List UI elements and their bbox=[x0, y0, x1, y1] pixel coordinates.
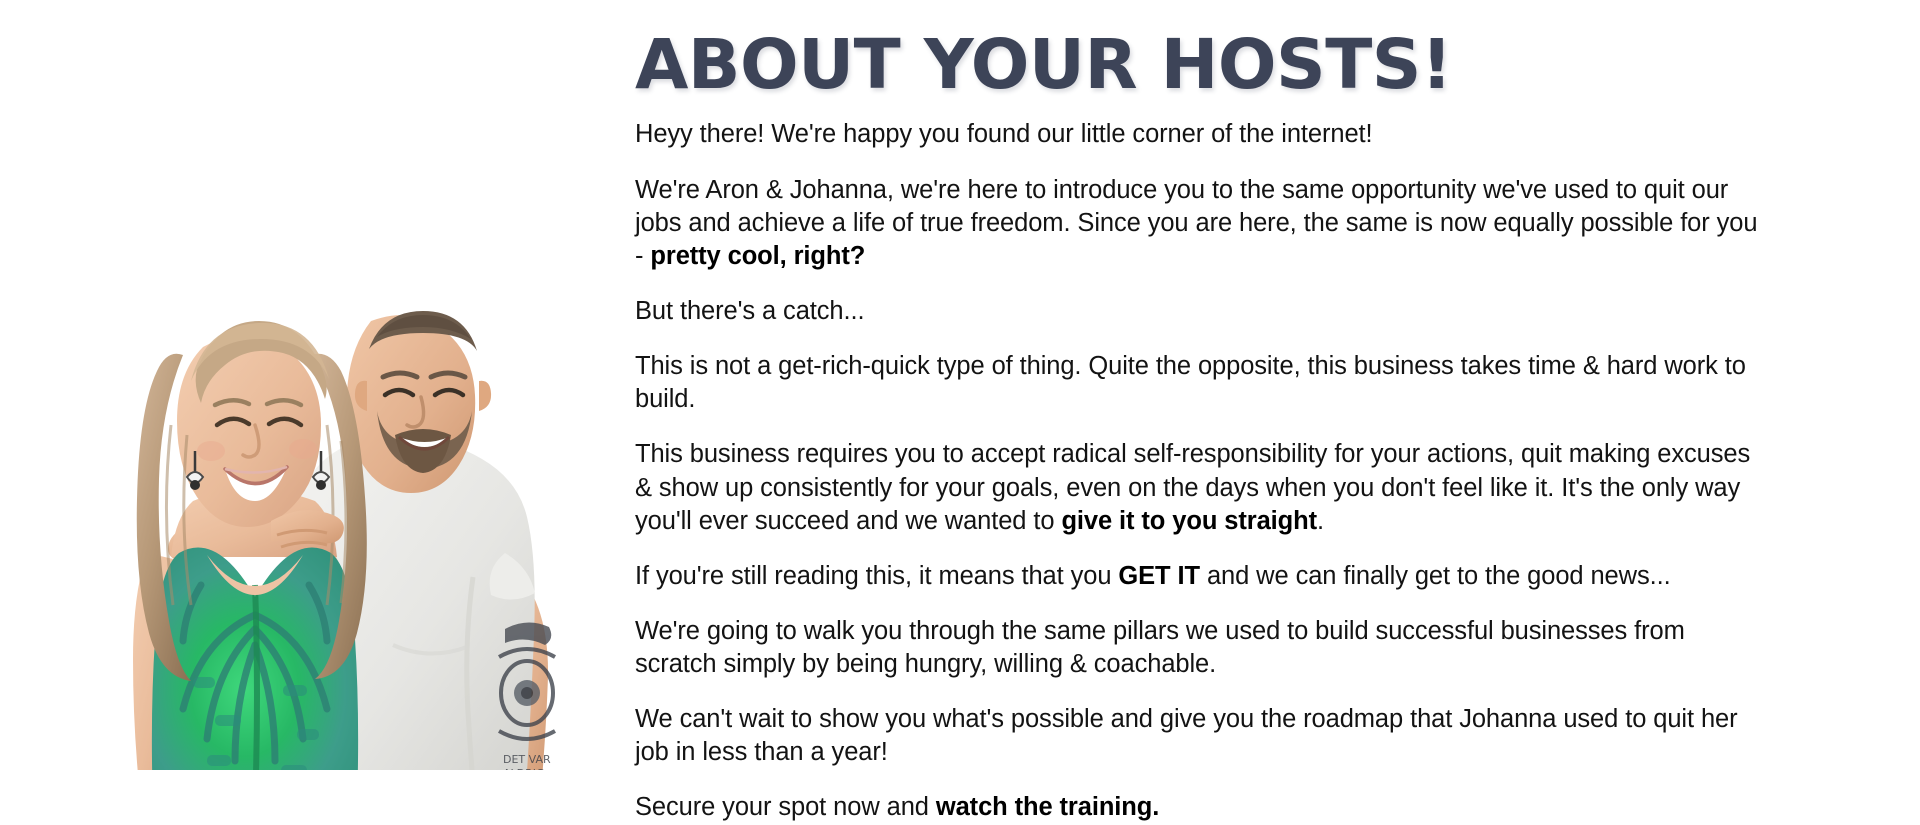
paragraph-roadmap: We can't wait to show you what's possibl… bbox=[635, 703, 1760, 769]
page-title: ABOUT YOUR HOSTS! bbox=[635, 30, 1760, 100]
hosts-photo-frame: DET VAR ALDRIG MENT ATT VARA bbox=[75, 285, 595, 770]
paragraph-get-it: If you're still reading this, it means t… bbox=[635, 560, 1760, 593]
hosts-portrait-photo: DET VAR ALDRIG MENT ATT VARA bbox=[75, 285, 595, 770]
emphasis-text: GET IT bbox=[1118, 562, 1200, 590]
emphasis-text: give it to you straight bbox=[1061, 507, 1317, 535]
paragraph-not-get-rich-quick: This is not a get-rich-quick type of thi… bbox=[635, 350, 1760, 416]
paragraph-intro: Heyy there! We're happy you found our li… bbox=[635, 118, 1760, 151]
paragraph-catch: But there's a catch... bbox=[635, 295, 1760, 328]
paragraph-self-responsibility: This business requires you to accept rad… bbox=[635, 438, 1760, 537]
hosts-photo-column: DET VAR ALDRIG MENT ATT VARA bbox=[0, 0, 600, 820]
paragraph-who-we-are: We're Aron & Johanna, we're here to intr… bbox=[635, 174, 1760, 273]
about-copy-column: ABOUT YOUR HOSTS! Heyy there! We're happ… bbox=[600, 0, 1920, 820]
about-your-hosts-section: DET VAR ALDRIG MENT ATT VARA bbox=[0, 0, 1920, 820]
svg-text:ALDRIG: ALDRIG bbox=[503, 767, 545, 770]
paragraph-pillars: We're going to walk you through the same… bbox=[635, 615, 1760, 681]
emphasis-text: pretty cool, right? bbox=[650, 242, 865, 270]
about-body-copy: Heyy there! We're happy you found our li… bbox=[635, 118, 1760, 824]
svg-text:DET VAR: DET VAR bbox=[503, 753, 551, 766]
emphasis-text: watch the training. bbox=[936, 793, 1159, 821]
